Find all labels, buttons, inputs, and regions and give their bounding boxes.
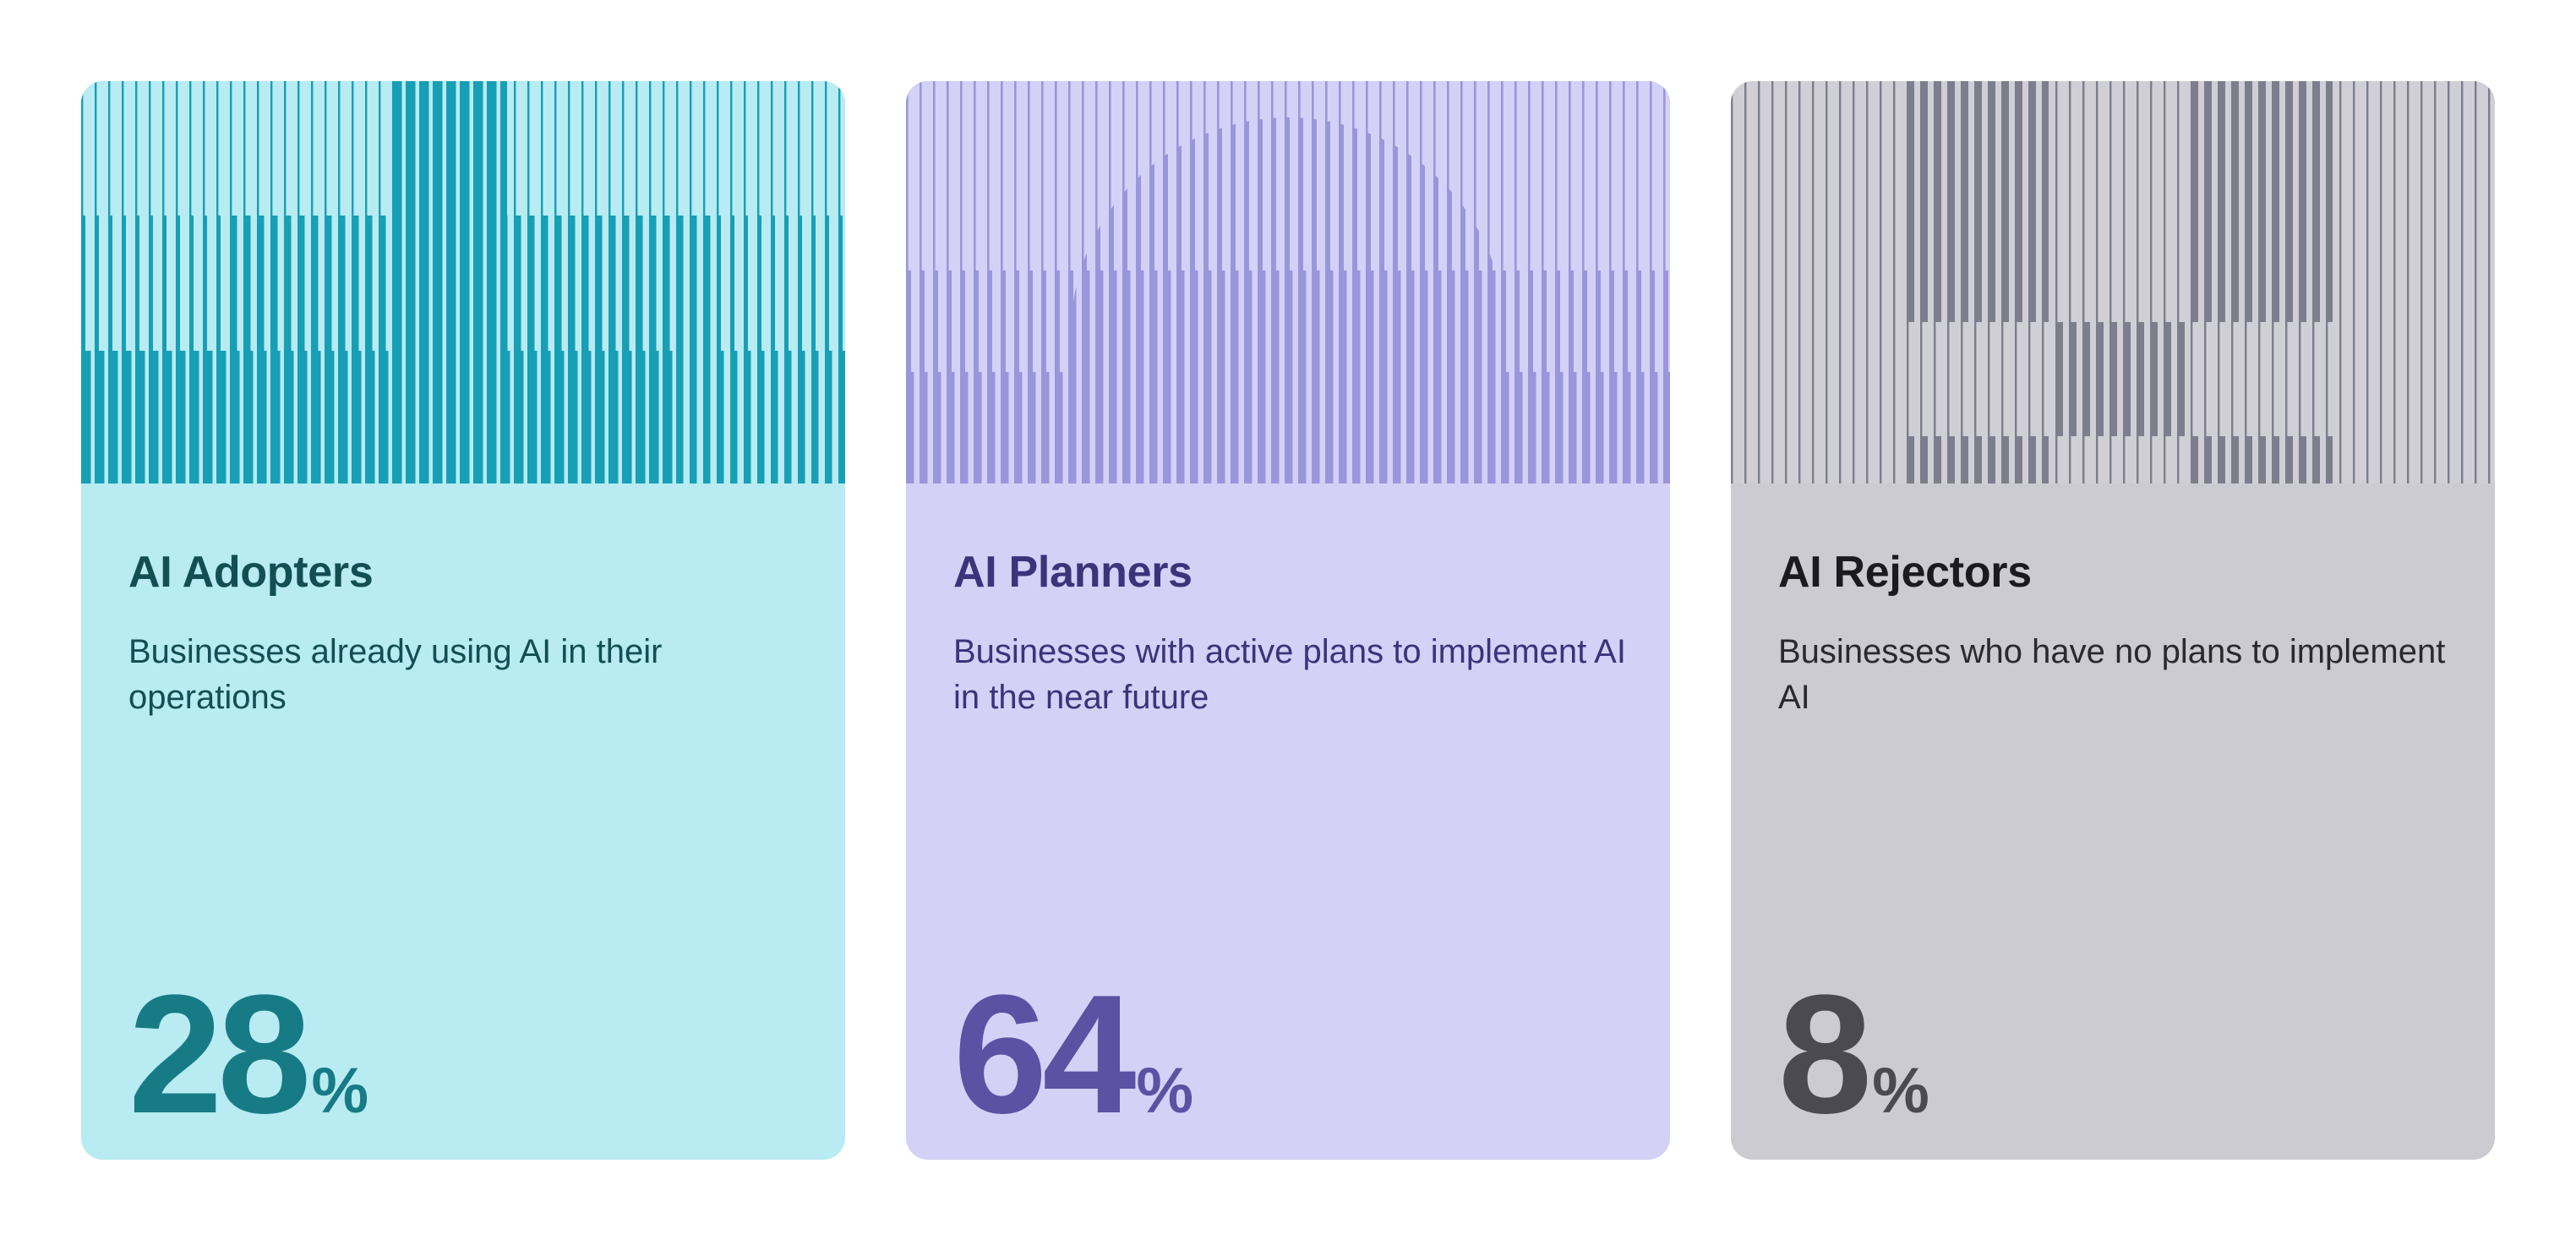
stat-unit: %	[1136, 1059, 1192, 1123]
stat-block: 64 %	[953, 981, 1192, 1129]
card-description: Businesses with active plans to implemen…	[953, 629, 1636, 720]
rejectors-pattern-svg	[1731, 81, 2495, 483]
stat-value: 64	[953, 981, 1131, 1129]
stat-card-ai-planners[interactable]: AI Planners Businesses with active plans…	[906, 81, 1670, 1160]
stat-card-board: AI Adopters Businesses already using AI …	[0, 0, 2576, 1240]
stat-block: 28 %	[128, 981, 368, 1129]
stat-card-ai-rejectors[interactable]: AI Rejectors Businesses who have no plan…	[1731, 81, 2495, 1160]
stripe-pattern-adopters	[81, 81, 845, 483]
card-body-planners: AI Planners Businesses with active plans…	[906, 483, 1670, 1160]
planners-pattern-svg	[906, 81, 1670, 483]
stat-unit: %	[311, 1059, 368, 1123]
card-title: AI Planners	[953, 549, 1623, 596]
stat-value: 8	[1778, 981, 1867, 1129]
card-description: Businesses already using AI in their ope…	[128, 629, 811, 720]
card-title: AI Rejectors	[1778, 549, 2448, 596]
card-title: AI Adopters	[128, 549, 798, 596]
adopters-pattern-svg	[81, 81, 845, 483]
stat-card-ai-adopters[interactable]: AI Adopters Businesses already using AI …	[81, 81, 845, 1160]
stat-block: 8 %	[1778, 981, 1929, 1129]
stat-unit: %	[1872, 1059, 1929, 1123]
card-description: Businesses who have no plans to implemen…	[1778, 629, 2461, 720]
card-body-adopters: AI Adopters Businesses already using AI …	[81, 483, 845, 1160]
stat-value: 28	[128, 981, 306, 1129]
stripe-pattern-rejectors	[1731, 81, 2495, 483]
card-body-rejectors: AI Rejectors Businesses who have no plan…	[1731, 483, 2495, 1160]
stripe-pattern-planners	[906, 81, 1670, 483]
